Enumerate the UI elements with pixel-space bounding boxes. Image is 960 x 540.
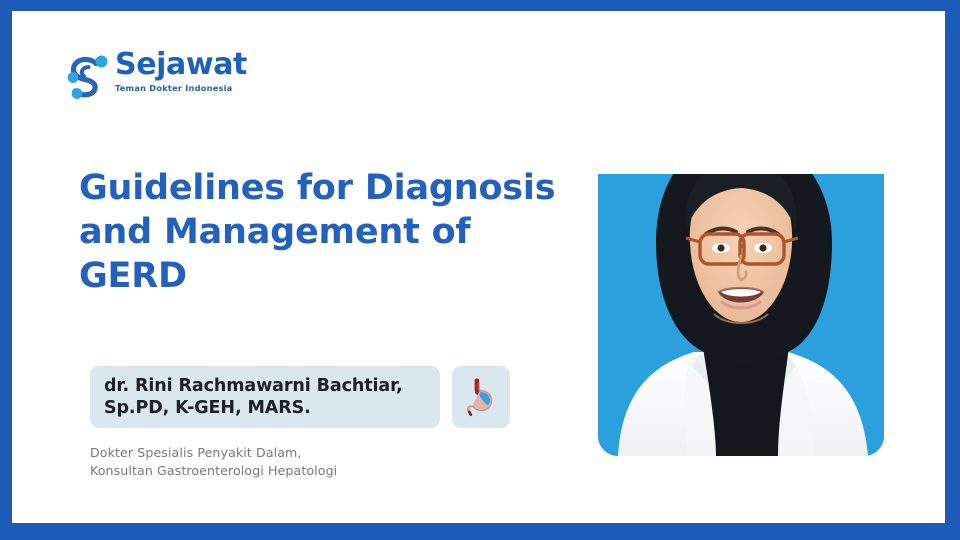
- speaker-credentials: Dokter Spesialis Penyakit Dalam, Konsult…: [90, 444, 337, 480]
- page-title: Guidelines for Diagnosis and Management …: [79, 166, 579, 298]
- stomach-icon: [461, 377, 501, 417]
- photo-clip: [582, 126, 900, 456]
- sejawat-s-logo-icon: [60, 48, 116, 104]
- stomach-icon-card: [452, 366, 510, 428]
- slide-frame: Sejawat Teman Dokter Indonesia Guideline…: [0, 0, 960, 540]
- slide-canvas: Sejawat Teman Dokter Indonesia Guideline…: [12, 11, 945, 523]
- speaker-photo: [598, 174, 884, 456]
- speaker-name-card: dr. Rini Rachmawarni Bachtiar, Sp.PD, K-…: [90, 366, 440, 428]
- brand-tagline: Teman Dokter Indonesia: [115, 84, 265, 92]
- brand-logo: Sejawat Teman Dokter Indonesia: [60, 44, 270, 110]
- speaker-block: dr. Rini Rachmawarni Bachtiar, Sp.PD, K-…: [90, 366, 510, 428]
- speaker-name: dr. Rini Rachmawarni Bachtiar, Sp.PD, K-…: [104, 375, 426, 420]
- brand-name: Sejawat: [115, 50, 265, 80]
